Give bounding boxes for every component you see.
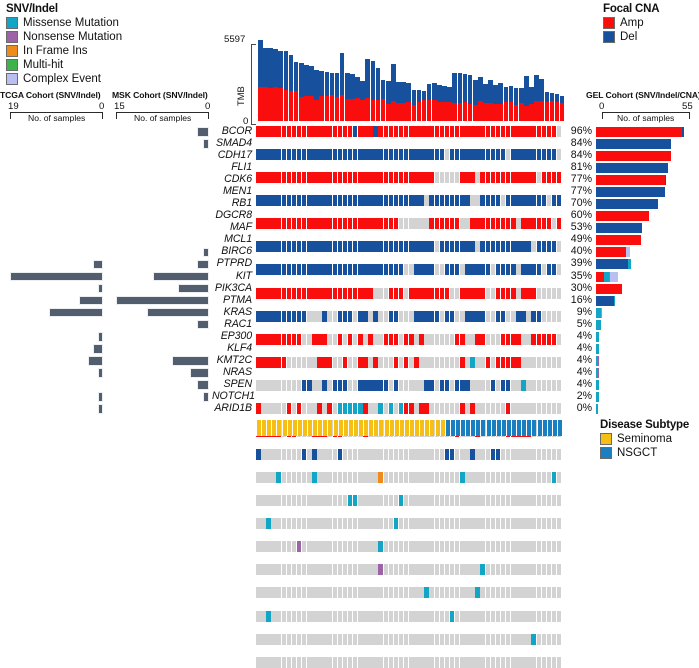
oncoprint-cell[interactable] <box>542 634 547 645</box>
oncoprint-cell[interactable] <box>480 311 485 322</box>
oncoprint-cell[interactable] <box>358 564 363 575</box>
oncoprint-cell[interactable] <box>526 611 531 622</box>
oncoprint-cell[interactable] <box>414 334 419 345</box>
oncoprint-cell[interactable] <box>394 495 399 506</box>
oncoprint-cell[interactable] <box>394 380 399 391</box>
oncoprint-cell[interactable] <box>414 611 419 622</box>
oncoprint-cell[interactable] <box>322 195 327 206</box>
oncoprint-cell[interactable] <box>322 126 327 137</box>
oncoprint-cell[interactable] <box>486 149 491 160</box>
oncoprint-cell[interactable] <box>470 541 475 552</box>
oncoprint-cell[interactable] <box>460 634 465 645</box>
oncoprint-cell[interactable] <box>460 149 465 160</box>
tmb-bar[interactable] <box>442 86 447 121</box>
oncoprint-cell[interactable] <box>480 449 485 460</box>
oncoprint-cell[interactable] <box>465 541 470 552</box>
oncoprint-cell[interactable] <box>419 126 424 137</box>
oncoprint-cell[interactable] <box>338 172 343 183</box>
oncoprint-cell[interactable] <box>302 587 307 598</box>
oncoprint-cell[interactable] <box>526 357 531 368</box>
oncoprint-cell[interactable] <box>496 149 501 160</box>
oncoprint-cell[interactable] <box>317 495 322 506</box>
oncoprint-cell[interactable] <box>419 634 424 645</box>
oncoprint-cell[interactable] <box>445 241 450 252</box>
oncoprint-cell[interactable] <box>531 195 536 206</box>
oncoprint-cell[interactable] <box>526 218 531 229</box>
oncoprint-cell[interactable] <box>547 495 552 506</box>
oncoprint-cell[interactable] <box>384 380 389 391</box>
oncoprint-cell[interactable] <box>358 311 363 322</box>
oncoprint-cell[interactable] <box>266 264 271 275</box>
tmb-bar[interactable] <box>509 86 514 121</box>
oncoprint-cell[interactable] <box>353 495 358 506</box>
oncoprint-cell[interactable] <box>557 172 562 183</box>
oncoprint-cell[interactable] <box>368 149 373 160</box>
oncoprint-cell[interactable] <box>435 587 440 598</box>
oncoprint-cell[interactable] <box>373 264 378 275</box>
oncoprint-cell[interactable] <box>394 657 399 668</box>
oncoprint-cell[interactable] <box>282 334 287 345</box>
oncoprint-cell[interactable] <box>552 587 557 598</box>
oncoprint-cell[interactable] <box>389 634 394 645</box>
oncoprint-cell[interactable] <box>399 311 404 322</box>
oncoprint-cell[interactable] <box>353 541 358 552</box>
oncoprint-cell[interactable] <box>312 334 317 345</box>
gene-label[interactable]: MCL1 <box>212 234 252 246</box>
oncoprint-cell[interactable] <box>404 634 409 645</box>
oncoprint-cell[interactable] <box>506 541 511 552</box>
oncoprint-cell[interactable] <box>475 495 480 506</box>
oncoprint-cell[interactable] <box>373 449 378 460</box>
tmb-bar[interactable] <box>473 80 478 121</box>
oncoprint-cell[interactable] <box>480 587 485 598</box>
oncoprint-cell[interactable] <box>271 126 276 137</box>
oncoprint-cell[interactable] <box>348 311 353 322</box>
oncoprint-cell[interactable] <box>271 495 276 506</box>
oncoprint-cell[interactable] <box>557 518 562 529</box>
oncoprint-cell[interactable] <box>302 472 307 483</box>
oncoprint-cell[interactable] <box>501 611 506 622</box>
oncoprint-cell[interactable] <box>414 357 419 368</box>
tmb-bar[interactable] <box>263 48 268 121</box>
oncoprint-cell[interactable] <box>276 518 281 529</box>
oncoprint-cell[interactable] <box>307 380 312 391</box>
tmb-bar[interactable] <box>529 87 534 121</box>
oncoprint-cell[interactable] <box>338 264 343 275</box>
oncoprint-cell[interactable] <box>547 357 552 368</box>
oncoprint-cell[interactable] <box>455 472 460 483</box>
tmb-bar[interactable] <box>350 74 355 121</box>
oncoprint-cell[interactable] <box>307 587 312 598</box>
snv-legend-item-4[interactable]: Complex Event <box>6 72 122 85</box>
oncoprint-cell[interactable] <box>256 611 261 622</box>
oncoprint-cell[interactable] <box>409 518 414 529</box>
oncoprint-cell[interactable] <box>460 334 465 345</box>
oncoprint-cell[interactable] <box>516 288 521 299</box>
oncoprint-cell[interactable] <box>338 564 343 575</box>
oncoprint-cell[interactable] <box>419 195 424 206</box>
oncoprint-cell[interactable] <box>450 288 455 299</box>
oncoprint-cell[interactable] <box>261 126 266 137</box>
oncoprint-cell[interactable] <box>358 172 363 183</box>
oncoprint-cell[interactable] <box>521 611 526 622</box>
oncoprint-cell[interactable] <box>358 334 363 345</box>
oncoprint-cell[interactable] <box>266 311 271 322</box>
oncoprint-cell[interactable] <box>450 149 455 160</box>
oncoprint-cell[interactable] <box>475 357 480 368</box>
tmb-bar[interactable] <box>376 68 381 121</box>
oncoprint-cell[interactable] <box>394 195 399 206</box>
oncoprint-cell[interactable] <box>460 126 465 137</box>
oncoprint-cell[interactable] <box>384 587 389 598</box>
oncoprint-cell[interactable] <box>353 218 358 229</box>
oncoprint-cell[interactable] <box>363 218 368 229</box>
oncoprint-cell[interactable] <box>373 241 378 252</box>
oncoprint-cell[interactable] <box>307 449 312 460</box>
oncoprint-cell[interactable] <box>307 518 312 529</box>
oncoprint-cell[interactable] <box>378 518 383 529</box>
oncoprint-cell[interactable] <box>450 172 455 183</box>
oncoprint-cell[interactable] <box>358 241 363 252</box>
oncoprint-cell[interactable] <box>343 172 348 183</box>
tmb-bar[interactable] <box>498 83 503 121</box>
oncoprint-cell[interactable] <box>486 311 491 322</box>
oncoprint-cell[interactable] <box>496 541 501 552</box>
oncoprint-cell[interactable] <box>399 611 404 622</box>
oncoprint-cell[interactable] <box>542 518 547 529</box>
oncoprint-cell[interactable] <box>348 195 353 206</box>
oncoprint-cell[interactable] <box>521 541 526 552</box>
oncoprint-cell[interactable] <box>455 334 460 345</box>
oncoprint-cell[interactable] <box>348 126 353 137</box>
oncoprint-cell[interactable] <box>292 195 297 206</box>
oncoprint-cell[interactable] <box>496 334 501 345</box>
oncoprint-cell[interactable] <box>429 587 434 598</box>
oncoprint-cell[interactable] <box>445 518 450 529</box>
oncoprint-cell[interactable] <box>547 611 552 622</box>
oncoprint-cell[interactable] <box>404 334 409 345</box>
oncoprint-cell[interactable] <box>486 334 491 345</box>
oncoprint-cell[interactable] <box>501 334 506 345</box>
oncoprint-cell[interactable] <box>526 149 531 160</box>
oncoprint-cell[interactable] <box>394 564 399 575</box>
oncoprint-cell[interactable] <box>384 311 389 322</box>
oncoprint-cell[interactable] <box>389 126 394 137</box>
gene-label[interactable]: ARID1B <box>212 403 252 415</box>
oncoprint-cell[interactable] <box>312 241 317 252</box>
oncoprint-cell[interactable] <box>409 403 414 414</box>
oncoprint-cell[interactable] <box>465 357 470 368</box>
oncoprint-cell[interactable] <box>491 518 496 529</box>
oncoprint-cell[interactable] <box>282 611 287 622</box>
oncoprint-cell[interactable] <box>424 657 429 668</box>
oncoprint-cell[interactable] <box>542 218 547 229</box>
oncoprint-cell[interactable] <box>450 541 455 552</box>
oncoprint-cell[interactable] <box>317 264 322 275</box>
gel-bar[interactable] <box>596 368 684 378</box>
oncoprint-cell[interactable] <box>537 611 542 622</box>
oncoprint-cell[interactable] <box>266 126 271 137</box>
oncoprint-cell[interactable] <box>322 472 327 483</box>
oncoprint-cell[interactable] <box>511 218 516 229</box>
oncoprint-cell[interactable] <box>419 518 424 529</box>
oncoprint-cell[interactable] <box>271 288 276 299</box>
oncoprint-cell[interactable] <box>526 518 531 529</box>
tmb-bar[interactable] <box>504 87 509 121</box>
oncoprint-cell[interactable] <box>307 288 312 299</box>
oncoprint-cell[interactable] <box>501 172 506 183</box>
tmb-bar[interactable] <box>432 83 437 121</box>
oncoprint-cell[interactable] <box>348 495 353 506</box>
oncoprint-cell[interactable] <box>394 288 399 299</box>
oncoprint-cell[interactable] <box>470 195 475 206</box>
oncoprint-cell[interactable] <box>327 449 332 460</box>
oncoprint-cell[interactable] <box>455 587 460 598</box>
oncoprint-cell[interactable] <box>358 472 363 483</box>
oncoprint-cell[interactable] <box>557 611 562 622</box>
oncoprint-cell[interactable] <box>261 334 266 345</box>
oncoprint-cell[interactable] <box>537 288 542 299</box>
oncoprint-cell[interactable] <box>521 634 526 645</box>
oncoprint-cell[interactable] <box>399 357 404 368</box>
oncoprint-cell[interactable] <box>358 518 363 529</box>
oncoprint-cell[interactable] <box>511 195 516 206</box>
oncoprint-cell[interactable] <box>384 357 389 368</box>
oncoprint-cell[interactable] <box>419 311 424 322</box>
gel-bar[interactable] <box>596 284 684 294</box>
oncoprint-cell[interactable] <box>440 657 445 668</box>
oncoprint-cell[interactable] <box>429 288 434 299</box>
oncoprint-cell[interactable] <box>297 334 302 345</box>
oncoprint-cell[interactable] <box>317 241 322 252</box>
oncoprint-cell[interactable] <box>378 311 383 322</box>
oncoprint-cell[interactable] <box>429 172 434 183</box>
oncoprint-cell[interactable] <box>399 518 404 529</box>
oncoprint-cell[interactable] <box>292 657 297 668</box>
oncoprint-cell[interactable] <box>368 334 373 345</box>
oncoprint-cell[interactable] <box>394 218 399 229</box>
oncoprint-cell[interactable] <box>516 172 521 183</box>
oncoprint-cell[interactable] <box>322 634 327 645</box>
oncoprint-cell[interactable] <box>486 449 491 460</box>
tmb-bar[interactable] <box>330 73 335 121</box>
oncoprint-cell[interactable] <box>333 587 338 598</box>
oncoprint-cell[interactable] <box>547 241 552 252</box>
oncoprint-cell[interactable] <box>338 403 343 414</box>
oncoprint-cell[interactable] <box>404 288 409 299</box>
oncoprint-cell[interactable] <box>333 357 338 368</box>
oncoprint-cell[interactable] <box>282 241 287 252</box>
oncoprint-cell[interactable] <box>282 172 287 183</box>
oncoprint-cell[interactable] <box>440 403 445 414</box>
oncoprint-cell[interactable] <box>333 472 338 483</box>
oncoprint-cell[interactable] <box>343 311 348 322</box>
oncoprint-cell[interactable] <box>343 334 348 345</box>
oncoprint-cell[interactable] <box>537 564 542 575</box>
oncoprint-cell[interactable] <box>348 241 353 252</box>
oncoprint-cell[interactable] <box>486 472 491 483</box>
oncoprint-cell[interactable] <box>297 541 302 552</box>
oncoprint-cell[interactable] <box>287 264 292 275</box>
gene-label[interactable]: MEN1 <box>212 186 252 198</box>
oncoprint-cell[interactable] <box>287 541 292 552</box>
oncoprint-cell[interactable] <box>271 311 276 322</box>
oncoprint-cell[interactable] <box>460 264 465 275</box>
oncoprint-cell[interactable] <box>282 587 287 598</box>
oncoprint-cell[interactable] <box>287 403 292 414</box>
oncoprint-cell[interactable] <box>287 472 292 483</box>
oncoprint-cell[interactable] <box>424 403 429 414</box>
cohort-bar[interactable] <box>203 392 209 402</box>
oncoprint-cell[interactable] <box>537 218 542 229</box>
oncoprint-cell[interactable] <box>557 126 562 137</box>
oncoprint-cell[interactable] <box>312 495 317 506</box>
oncoprint-cell[interactable] <box>373 564 378 575</box>
tmb-bar[interactable] <box>325 72 330 121</box>
oncoprint-cell[interactable] <box>491 195 496 206</box>
oncoprint-cell[interactable] <box>506 334 511 345</box>
oncoprint-cell[interactable] <box>256 380 261 391</box>
oncoprint-cell[interactable] <box>384 541 389 552</box>
oncoprint-cell[interactable] <box>414 495 419 506</box>
oncoprint-cell[interactable] <box>384 611 389 622</box>
oncoprint-cell[interactable] <box>307 195 312 206</box>
oncoprint-cell[interactable] <box>521 449 526 460</box>
oncoprint-cell[interactable] <box>363 657 368 668</box>
oncoprint-cell[interactable] <box>358 126 363 137</box>
oncoprint-cell[interactable] <box>429 241 434 252</box>
oncoprint-cell[interactable] <box>317 357 322 368</box>
oncoprint-cell[interactable] <box>409 126 414 137</box>
oncoprint-cell[interactable] <box>276 264 281 275</box>
oncoprint-cell[interactable] <box>491 657 496 668</box>
oncoprint-cell[interactable] <box>338 334 343 345</box>
oncoprint-cell[interactable] <box>475 634 480 645</box>
oncoprint-cell[interactable] <box>506 657 511 668</box>
oncoprint-cell[interactable] <box>537 495 542 506</box>
oncoprint-cell[interactable] <box>414 518 419 529</box>
gel-bar[interactable] <box>596 392 684 402</box>
cohort-bar[interactable] <box>93 344 103 354</box>
oncoprint-cell[interactable] <box>312 195 317 206</box>
oncoprint-cell[interactable] <box>256 657 261 668</box>
oncoprint-cell[interactable] <box>542 587 547 598</box>
oncoprint-cell[interactable] <box>348 587 353 598</box>
oncoprint-cell[interactable] <box>455 357 460 368</box>
oncoprint-cell[interactable] <box>521 218 526 229</box>
oncoprint-cell[interactable] <box>531 564 536 575</box>
oncoprint-cell[interactable] <box>460 657 465 668</box>
oncoprint-cell[interactable] <box>542 126 547 137</box>
oncoprint-cell[interactable] <box>511 564 516 575</box>
oncoprint-cell[interactable] <box>297 495 302 506</box>
oncoprint-cell[interactable] <box>440 241 445 252</box>
oncoprint-cell[interactable] <box>486 518 491 529</box>
oncoprint-cell[interactable] <box>531 541 536 552</box>
oncoprint-cell[interactable] <box>327 334 332 345</box>
oncoprint-cell[interactable] <box>440 564 445 575</box>
oncoprint-cell[interactable] <box>363 334 368 345</box>
oncoprint-cell[interactable] <box>445 657 450 668</box>
oncoprint-cell[interactable] <box>414 149 419 160</box>
oncoprint-cell[interactable] <box>384 495 389 506</box>
oncoprint-cell[interactable] <box>333 495 338 506</box>
oncoprint-cell[interactable] <box>470 218 475 229</box>
oncoprint-cell[interactable] <box>261 380 266 391</box>
oncoprint-cell[interactable] <box>440 288 445 299</box>
oncoprint-cell[interactable] <box>506 288 511 299</box>
oncoprint-cell[interactable] <box>521 657 526 668</box>
oncoprint-cell[interactable] <box>378 564 383 575</box>
gene-label[interactable]: RB1 <box>212 198 252 210</box>
oncoprint-cell[interactable] <box>317 518 322 529</box>
oncoprint-cell[interactable] <box>516 195 521 206</box>
oncoprint-cell[interactable] <box>348 380 353 391</box>
oncoprint-cell[interactable] <box>537 380 542 391</box>
oncoprint-cell[interactable] <box>491 288 496 299</box>
gel-bar[interactable] <box>596 199 684 209</box>
oncoprint-cell[interactable] <box>368 380 373 391</box>
oncoprint-cell[interactable] <box>256 126 261 137</box>
oncoprint-cell[interactable] <box>322 587 327 598</box>
tmb-bar[interactable] <box>422 91 427 121</box>
oncoprint-cell[interactable] <box>429 657 434 668</box>
oncoprint-cell[interactable] <box>373 149 378 160</box>
oncoprint-cell[interactable] <box>399 587 404 598</box>
cohort-bar[interactable] <box>203 248 209 258</box>
tmb-bar[interactable] <box>478 77 483 121</box>
oncoprint-cell[interactable] <box>531 172 536 183</box>
oncoprint-cell[interactable] <box>496 264 501 275</box>
oncoprint-cell[interactable] <box>378 657 383 668</box>
tmb-bar[interactable] <box>345 73 350 121</box>
oncoprint-cell[interactable] <box>348 172 353 183</box>
oncoprint-cell[interactable] <box>297 264 302 275</box>
oncoprint-cell[interactable] <box>373 518 378 529</box>
oncoprint-cell[interactable] <box>394 634 399 645</box>
oncoprint-cell[interactable] <box>435 541 440 552</box>
cohort-bar[interactable] <box>98 368 103 378</box>
oncoprint-cell[interactable] <box>414 380 419 391</box>
oncoprint-cell[interactable] <box>516 564 521 575</box>
oncoprint-cell[interactable] <box>343 541 348 552</box>
oncoprint-cell[interactable] <box>506 311 511 322</box>
oncoprint-cell[interactable] <box>261 495 266 506</box>
oncoprint-cell[interactable] <box>450 126 455 137</box>
oncoprint-cell[interactable] <box>542 541 547 552</box>
oncoprint-cell[interactable] <box>292 288 297 299</box>
cohort-bar[interactable] <box>10 272 103 282</box>
oncoprint-cell[interactable] <box>506 195 511 206</box>
oncoprint-cell[interactable] <box>276 172 281 183</box>
oncoprint-cell[interactable] <box>266 218 271 229</box>
gene-label[interactable]: RAC1 <box>212 319 252 331</box>
oncoprint-cell[interactable] <box>552 403 557 414</box>
oncoprint-cell[interactable] <box>542 334 547 345</box>
oncoprint-cell[interactable] <box>317 288 322 299</box>
oncoprint-cell[interactable] <box>511 403 516 414</box>
oncoprint-cell[interactable] <box>440 195 445 206</box>
tmb-bar[interactable] <box>493 85 498 121</box>
oncoprint-cell[interactable] <box>414 241 419 252</box>
oncoprint-cell[interactable] <box>537 634 542 645</box>
oncoprint-cell[interactable] <box>261 611 266 622</box>
oncoprint-cell[interactable] <box>501 495 506 506</box>
oncoprint-cell[interactable] <box>429 218 434 229</box>
oncoprint-cell[interactable] <box>526 472 531 483</box>
oncoprint-cell[interactable] <box>297 172 302 183</box>
oncoprint-cell[interactable] <box>429 449 434 460</box>
